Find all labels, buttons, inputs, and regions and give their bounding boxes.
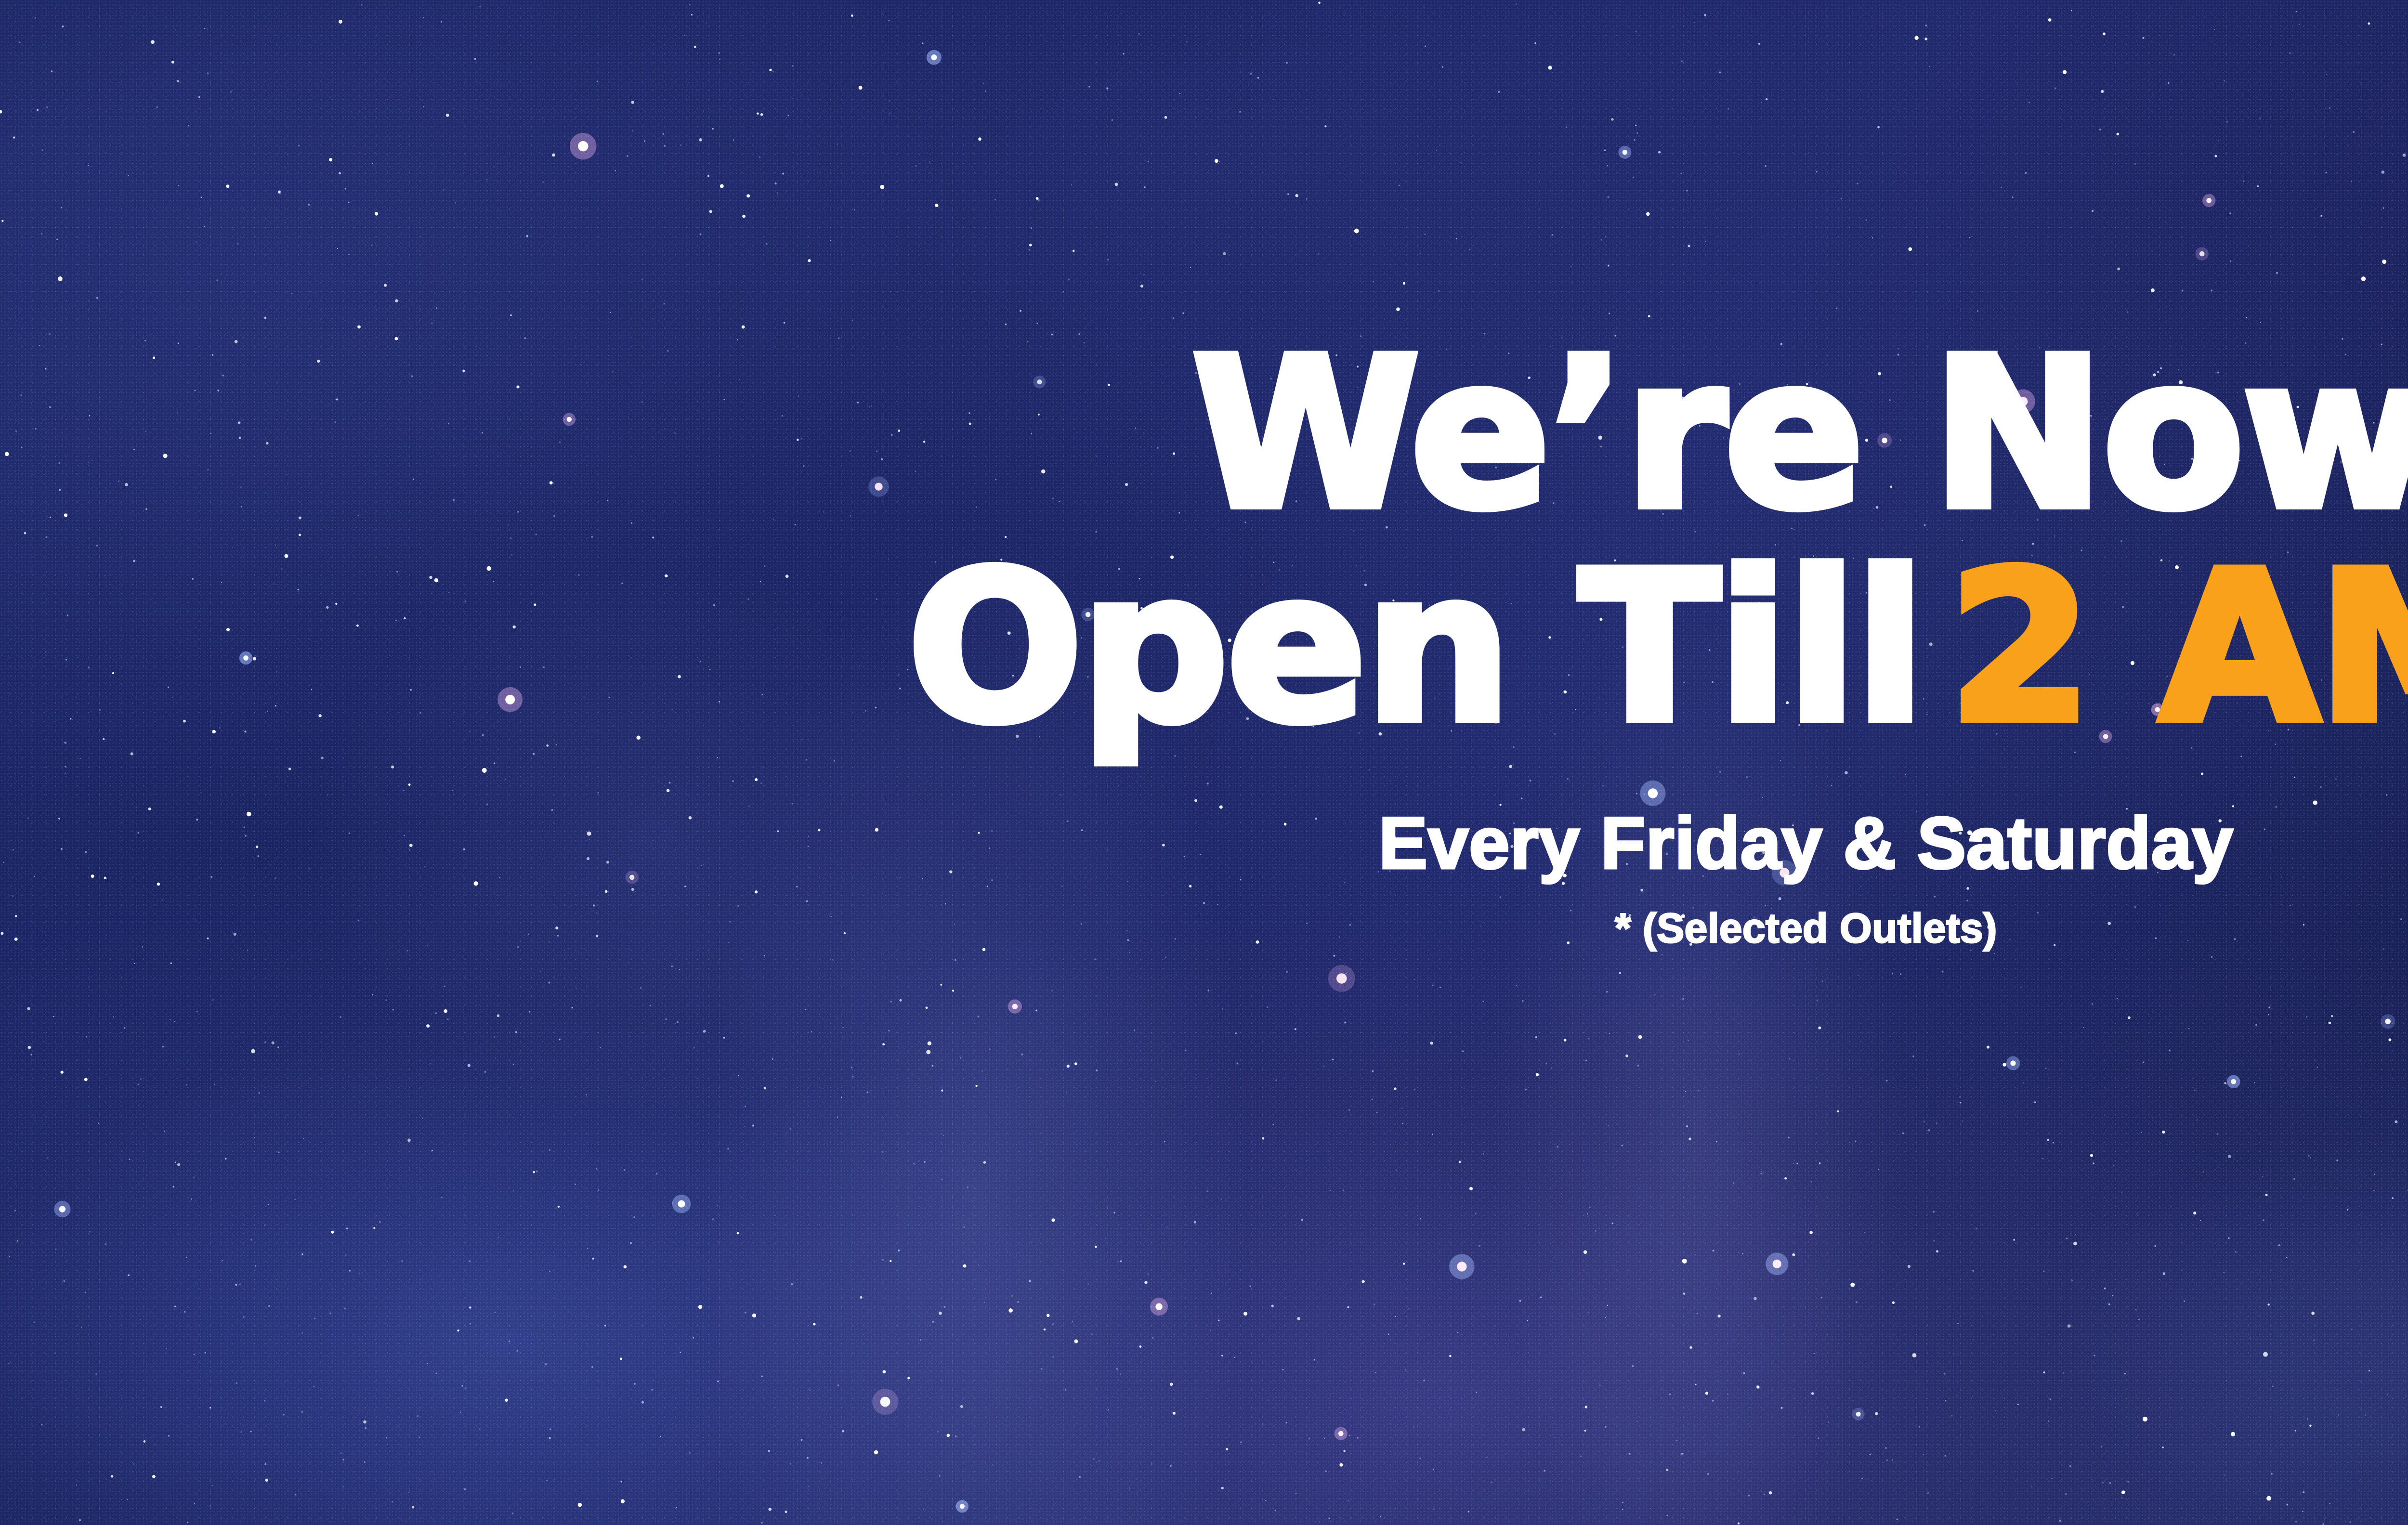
headline-open-till-text: Open Till <box>907 551 1924 745</box>
banner-content: We’re Now Open Till 2 AM Every Friday & … <box>0 0 2408 1525</box>
subtitle: Every Friday & Saturday <box>1379 801 2234 886</box>
headline-line-1: We’re Now <box>1181 337 2408 532</box>
fineprint-note: * (Selected Outlets) <box>1615 905 1997 952</box>
headline-line-2: Open Till 2 AM <box>907 551 2408 745</box>
headline-line-1-text: We’re Now <box>1191 337 2408 532</box>
headline-closing-time-text: 2 AM <box>1948 551 2408 745</box>
promo-banner: We’re Now Open Till 2 AM Every Friday & … <box>0 0 2408 1525</box>
